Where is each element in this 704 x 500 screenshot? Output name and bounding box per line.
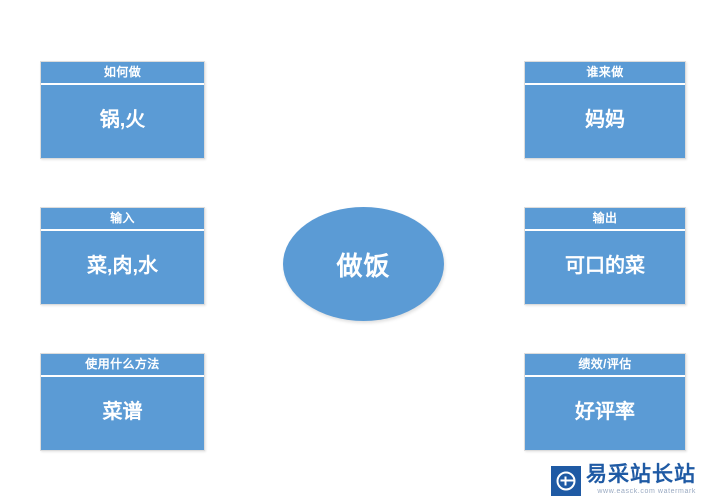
node-value-bottom-right: 好评率 bbox=[525, 377, 685, 450]
node-box-bottom-right[interactable]: 绩效/评估 好评率 bbox=[524, 353, 686, 451]
diagram-canvas: 如何做 锅,火 谁来做 妈妈 输入 菜,肉,水 输出 可口的菜 使用什么方法 菜… bbox=[0, 0, 704, 500]
node-header-top-right: 谁来做 bbox=[525, 62, 685, 85]
watermark-text: 易采站长站 www.easck.com watermark bbox=[586, 463, 696, 496]
node-header-middle-left: 输入 bbox=[41, 208, 204, 231]
node-value-bottom-left: 菜谱 bbox=[41, 377, 204, 450]
node-box-bottom-left[interactable]: 使用什么方法 菜谱 bbox=[40, 353, 205, 451]
watermark: 易采站长站 www.easck.com watermark bbox=[551, 463, 696, 496]
watermark-subtitle: www.easck.com watermark bbox=[586, 487, 696, 496]
node-value-top-left: 锅,火 bbox=[41, 85, 204, 158]
node-value-middle-left: 菜,肉,水 bbox=[41, 231, 204, 304]
center-node-label: 做饭 bbox=[336, 246, 390, 283]
watermark-title: 易采站长站 bbox=[586, 463, 696, 487]
node-header-bottom-left: 使用什么方法 bbox=[41, 354, 204, 377]
center-ellipse-node[interactable]: 做饭 bbox=[283, 207, 444, 321]
node-box-top-left[interactable]: 如何做 锅,火 bbox=[40, 61, 205, 159]
node-value-middle-right: 可口的菜 bbox=[525, 231, 685, 304]
node-box-middle-left[interactable]: 输入 菜,肉,水 bbox=[40, 207, 205, 305]
node-box-middle-right[interactable]: 输出 可口的菜 bbox=[524, 207, 686, 305]
node-header-middle-right: 输出 bbox=[525, 208, 685, 231]
node-box-top-right[interactable]: 谁来做 妈妈 bbox=[524, 61, 686, 159]
node-value-top-right: 妈妈 bbox=[525, 85, 685, 158]
circle-g-logo-icon bbox=[551, 466, 581, 496]
node-header-bottom-right: 绩效/评估 bbox=[525, 354, 685, 377]
node-header-top-left: 如何做 bbox=[41, 62, 204, 85]
